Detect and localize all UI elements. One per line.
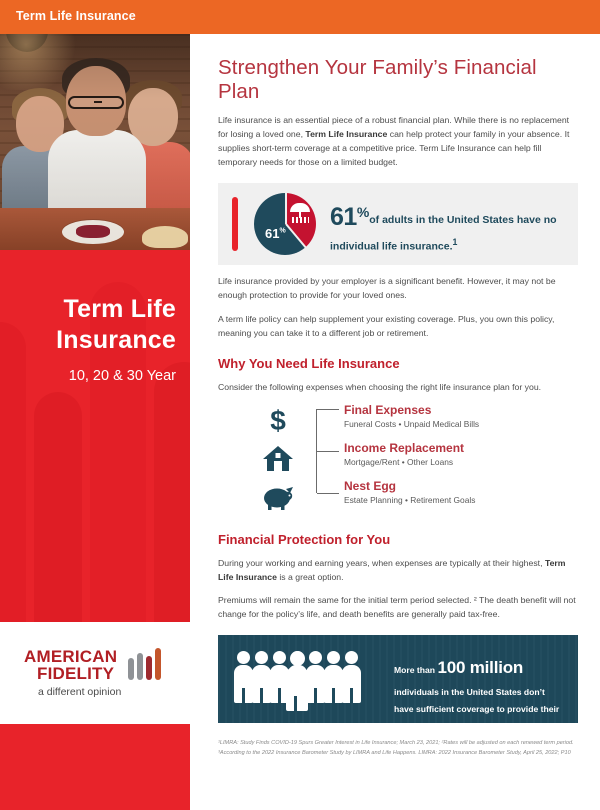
watermark-bar — [154, 362, 190, 622]
statistic-footnote-ref: 1 — [453, 237, 458, 247]
statistic-percent-sign: % — [357, 204, 369, 220]
page-title: Strengthen Your Family’s Financial Plan — [218, 56, 578, 104]
person-icon — [306, 651, 325, 703]
teal-post: individuals in the — [394, 687, 464, 697]
footnotes: ¹LIMRA: Study Finds COVID-19 Spurs Great… — [218, 739, 578, 759]
intro-text-bold: Term Life Insurance — [305, 129, 387, 139]
product-title-line-1: Term Life — [4, 294, 176, 325]
why-subtext: Consider the following expenses when cho… — [218, 380, 578, 394]
benefit-subtitle: Funeral Costs • Unpaid Medical Bills — [344, 419, 479, 429]
benefit-subtitle: Estate Planning • Retirement Goals — [344, 495, 475, 505]
protection-paragraph-2: Premiums will remain the same for the in… — [218, 593, 578, 621]
logo-tagline: a different opinion — [38, 686, 121, 698]
home-icon — [260, 442, 296, 474]
product-title-line-2: Insurance — [4, 325, 176, 356]
person-icon — [324, 651, 343, 703]
statistic-card: 61% 61%of adults in the United States ha… — [218, 183, 578, 265]
product-terms: 10, 20 & 30 Year — [4, 368, 176, 384]
product-title: Term Life Insurance — [4, 294, 176, 355]
family-photo — [0, 34, 190, 250]
teal-pre: More than — [394, 665, 437, 675]
teal-big-number: 100 million — [437, 658, 523, 677]
paragraph-employer: Life insurance provided by your employer… — [218, 274, 578, 302]
pie-chart: 61% — [254, 193, 316, 255]
page-header-title: Term Life Insurance — [16, 9, 136, 23]
watermark-bar — [34, 392, 82, 622]
logo-bar — [128, 658, 134, 680]
accent-bar — [232, 197, 238, 251]
protection-text-a: During your working and earning years, w… — [218, 558, 545, 568]
left-sidebar: Term Life Insurance 10, 20 & 30 Year AME… — [0, 34, 190, 776]
logo-bar — [146, 656, 152, 680]
intro-paragraph: Life insurance is an essential piece of … — [218, 113, 578, 169]
logo-line-1: AMERICAN — [24, 648, 117, 665]
benefit-item-final-expenses: $ Final Expenses Funeral Costs • Unpaid … — [218, 404, 578, 440]
teal-statistic-banner: More than 100 million individuals in the… — [218, 635, 578, 723]
benefit-item-nest-egg: Nest Egg Estate Planning • Retirement Go… — [218, 480, 578, 516]
logo-wordmark: AMERICAN FIDELITY — [24, 648, 117, 683]
sidebar-bottom-red-strip — [0, 724, 190, 810]
section-heading-protection: Financial Protection for You — [218, 532, 578, 547]
benefit-title: Final Expenses — [344, 403, 431, 417]
logo-bar — [137, 653, 143, 680]
logo-bars-icon — [128, 648, 168, 680]
watermark-bar — [0, 322, 26, 622]
svg-text:$: $ — [270, 405, 286, 436]
pie-slice-label: 61% — [265, 226, 286, 241]
dollar-icon: $ — [260, 404, 296, 436]
american-fidelity-logo: AMERICAN FIDELITY a different opinion — [0, 634, 190, 714]
piggy-bank-icon — [260, 480, 296, 512]
person-icon-front — [286, 651, 308, 711]
teal-banner-text: More than 100 million individuals in the… — [394, 651, 566, 723]
benefit-title: Nest Egg — [344, 479, 396, 493]
people-under-umbrella-icon — [292, 217, 309, 223]
person-icon — [234, 651, 253, 703]
photo-vignette — [0, 34, 190, 250]
benefit-title: Income Replacement — [344, 441, 464, 455]
logo-line-2: FIDELITY — [24, 665, 117, 682]
statistic-line-1: of adults in the United States — [369, 214, 514, 226]
logo-bar — [155, 648, 161, 680]
main-content: Strengthen Your Family’s Financial Plan … — [190, 34, 600, 776]
protection-paragraph-1: During your working and earning years, w… — [218, 556, 578, 584]
person-icon — [342, 651, 361, 703]
page-header-bar: Term Life Insurance — [0, 0, 600, 34]
paragraph-portability: A term life policy can help supplement y… — [218, 312, 578, 340]
person-icon — [252, 651, 271, 703]
benefit-subtitle: Mortgage/Rent • Other Loans — [344, 457, 453, 467]
product-title-block: Term Life Insurance 10, 20 & 30 Year — [0, 250, 190, 622]
benefits-list: $ Final Expenses Funeral Costs • Unpaid … — [218, 404, 578, 516]
pie-divider — [285, 193, 287, 224]
pie-divider — [285, 224, 306, 249]
section-heading-why: Why You Need Life Insurance — [218, 356, 578, 371]
people-group-icon — [234, 649, 374, 711]
statistic-number: 61 — [330, 203, 357, 231]
sidebar-bottom-red-fill — [0, 724, 190, 810]
benefit-item-income-replacement: Income Replacement Mortgage/Rent • Other… — [218, 442, 578, 478]
protection-text-c: is a great option. — [277, 572, 344, 582]
statistic-text: 61%of adults in the United States have n… — [330, 199, 572, 254]
